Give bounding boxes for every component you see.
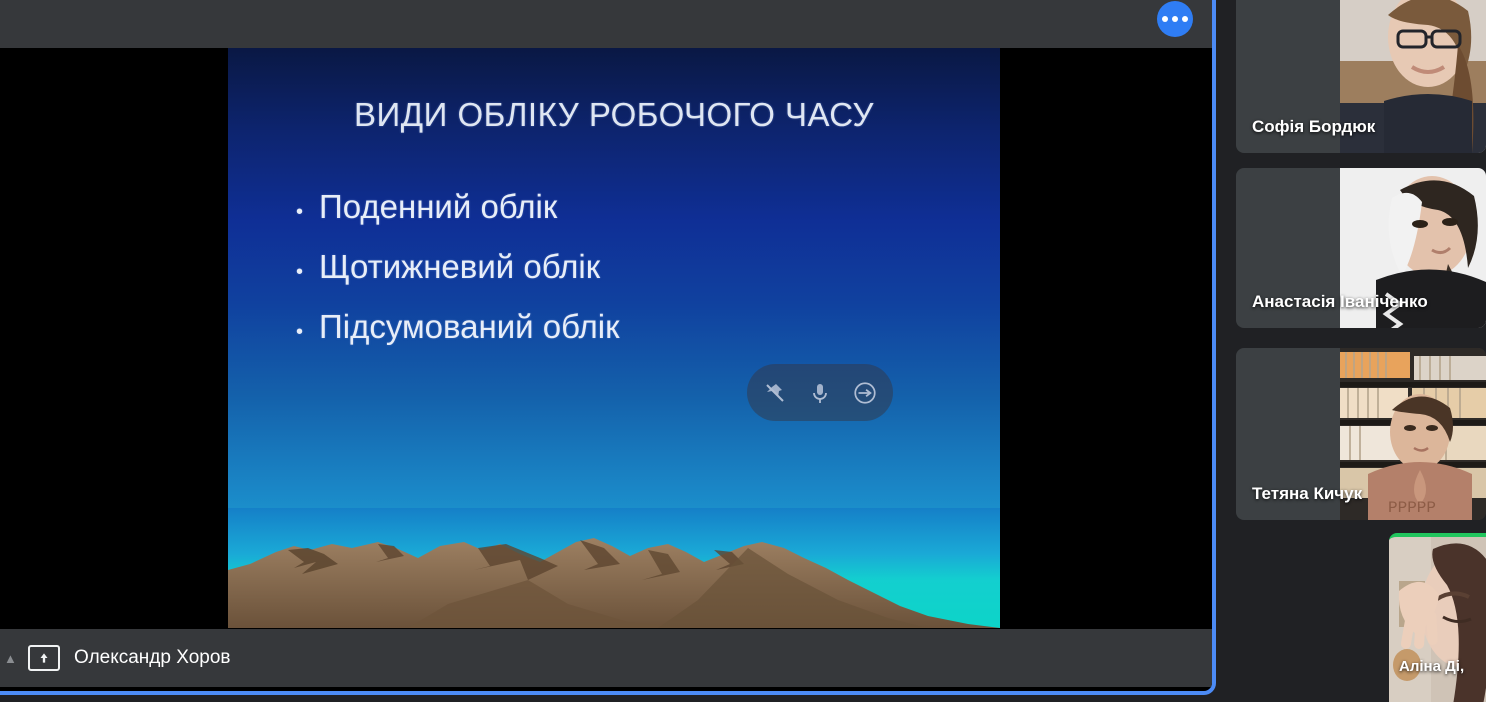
three-dots-icon — [1162, 16, 1168, 22]
presenting-indicator-icon: ▲ — [4, 651, 14, 666]
bullet-marker-icon: • — [296, 322, 303, 342]
svg-text:PPPPP: PPPPP — [1388, 499, 1436, 517]
presentation-stage: ВИДИ ОБЛІКУ РОБОЧОГО ЧАСУ • Поденний обл… — [0, 0, 1216, 695]
three-dots-icon — [1182, 16, 1188, 22]
bullet-text: Поденний облік — [319, 188, 557, 226]
presenter-bar: ▲ Олександр Хоров — [0, 629, 1212, 687]
bullet-marker-icon: • — [296, 262, 303, 282]
participant-name: Аліна Ді, — [1399, 658, 1464, 675]
more-options-button[interactable] — [1157, 1, 1193, 37]
participant-name: Тетяна Кичук — [1252, 484, 1362, 504]
bullet-text: Щотижневий облік — [319, 248, 600, 286]
participant-video — [1389, 537, 1486, 702]
screen-share-icon — [28, 645, 60, 671]
participant-name: Анастасія Іваніченко — [1252, 292, 1428, 312]
participant-tile[interactable]: PPPPP Тетяна Кичук — [1236, 348, 1486, 520]
slide-title: ВИДИ ОБЛІКУ РОБОЧОГО ЧАСУ — [228, 96, 1000, 134]
microphone-icon[interactable] — [803, 376, 837, 410]
participant-rail: Софія Бордюк Анастасія Іваніченко — [1226, 0, 1486, 702]
participant-tile[interactable]: Софія Бордюк — [1236, 0, 1486, 153]
pin-off-icon[interactable] — [758, 376, 792, 410]
shared-screen-video[interactable]: ВИДИ ОБЛІКУ РОБОЧОГО ЧАСУ • Поденний обл… — [0, 48, 1212, 640]
participant-name: Софія Бордюк — [1252, 117, 1375, 137]
bullet-text: Підсумований облік — [319, 308, 620, 346]
slide-mountain-graphic — [228, 518, 1000, 628]
slide-bullet-list: • Поденний облік • Щотижневий облік • Пі… — [296, 188, 956, 368]
video-hover-controls[interactable] — [747, 364, 893, 421]
pin-to-screen-icon[interactable] — [848, 376, 882, 410]
participant-tile[interactable]: Анастасія Іваніченко — [1236, 168, 1486, 328]
three-dots-icon — [1172, 16, 1178, 22]
list-item: • Підсумований облік — [296, 308, 956, 346]
participant-tile-self[interactable]: Аліна Ді, — [1389, 533, 1486, 702]
presentation-slide: ВИДИ ОБЛІКУ РОБОЧОГО ЧАСУ • Поденний обл… — [228, 48, 1000, 628]
list-item: • Поденний облік — [296, 188, 956, 226]
bullet-marker-icon: • — [296, 202, 303, 222]
google-meet-window: ВИДИ ОБЛІКУ РОБОЧОГО ЧАСУ • Поденний обл… — [0, 0, 1486, 702]
presenter-name: Олександр Хоров — [74, 647, 231, 669]
stage-top-bar — [0, 0, 1212, 48]
list-item: • Щотижневий облік — [296, 248, 956, 286]
